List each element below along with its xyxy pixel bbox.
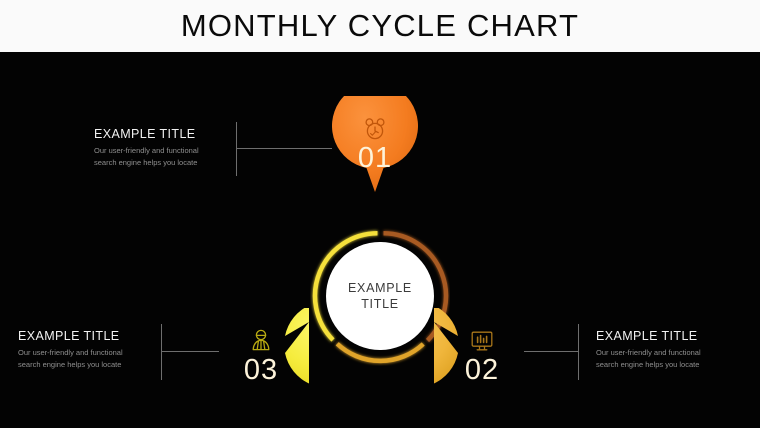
connector-horizontal-02 [524,351,579,352]
hub-label-line2: TITLE [361,296,399,313]
textblock-01: EXAMPLE TITLE Our user-friendly and func… [94,127,199,169]
marker-01[interactable]: 01 [327,96,423,192]
marker-03[interactable]: 03 [213,308,309,404]
textblock-03-body-line1: Our user-friendly and functional [18,347,123,359]
page-title: MONTHLY CYCLE CHART [181,8,579,44]
textblock-02-title: EXAMPLE TITLE [596,329,701,343]
connector-horizontal-03 [161,351,219,352]
connector-vertical-02 [578,324,579,380]
textblock-02: EXAMPLE TITLE Our user-friendly and func… [596,329,701,371]
marker-03-content: 03 [213,308,309,404]
marker-01-content: 01 [327,96,423,192]
marker-01-number: 01 [358,144,392,173]
marker-03-number: 03 [244,356,278,385]
textblock-01-body-line1: Our user-friendly and functional [94,145,199,157]
hub-label: EXAMPLE TITLE [326,242,434,350]
textblock-01-title: EXAMPLE TITLE [94,127,199,141]
textblock-02-body-line1: Our user-friendly and functional [596,347,701,359]
textblock-01-body-line2: search engine helps you locate [94,157,199,169]
textblock-03-title: EXAMPLE TITLE [18,329,123,343]
textblock-03-body-line2: search engine helps you locate [18,359,123,371]
diagram-stage: EXAMPLE TITLE [0,52,760,428]
title-banner: MONTHLY CYCLE CHART [0,0,760,52]
alarm-clock-icon [362,116,388,142]
connector-horizontal-01 [236,148,332,149]
hub-label-line1: EXAMPLE [348,280,412,297]
connector-vertical-01 [236,122,237,176]
textblock-02-body-line2: search engine helps you locate [596,359,701,371]
marker-02-content: 02 [434,308,530,404]
textblock-03: EXAMPLE TITLE Our user-friendly and func… [18,329,123,371]
marker-02-number: 02 [465,356,499,385]
user-person-icon [248,328,274,354]
marker-02[interactable]: 02 [434,308,530,404]
monitor-chart-icon [469,328,495,354]
slide-canvas: MONTHLY CYCLE CHART [0,0,760,428]
center-hub[interactable]: EXAMPLE TITLE [310,226,450,366]
connector-vertical-03 [161,324,162,380]
